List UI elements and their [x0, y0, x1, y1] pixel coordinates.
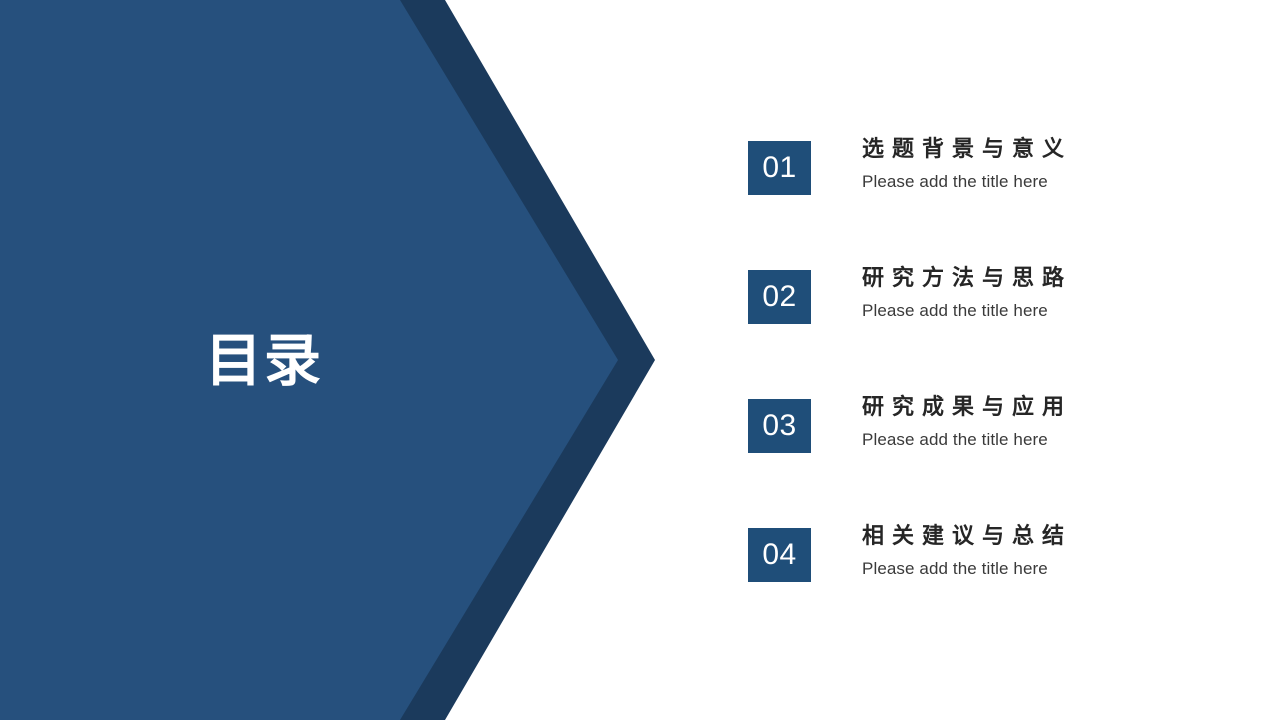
agenda-number-badge: 03: [748, 399, 811, 453]
agenda-item-text: 选题背景与意义 Please add the title here: [862, 135, 1222, 194]
agenda-item-text: 相关建议与总结 Please add the title here: [862, 522, 1222, 581]
agenda-number-badge: 02: [748, 270, 811, 324]
agenda-item-04[interactable]: 04 相关建议与总结 Please add the title here: [748, 528, 1218, 582]
agenda-item-subtitle: Please add the title here: [862, 170, 1222, 194]
agenda-item-title: 选题背景与意义: [862, 135, 1222, 165]
agenda-number-badge: 04: [748, 528, 811, 582]
agenda-item-subtitle: Please add the title here: [862, 299, 1222, 323]
agenda-item-03[interactable]: 03 研究成果与应用 Please add the title here: [748, 399, 1218, 453]
agenda-item-02[interactable]: 02 研究方法与思路 Please add the title here: [748, 270, 1218, 324]
agenda-item-subtitle: Please add the title here: [862, 557, 1222, 581]
agenda-item-text: 研究成果与应用 Please add the title here: [862, 393, 1222, 452]
page-title: 目录: [205, 326, 323, 396]
agenda-list: 01 选题背景与意义 Please add the title here 02 …: [748, 141, 1218, 582]
agenda-item-title: 研究方法与思路: [862, 264, 1222, 294]
agenda-item-01[interactable]: 01 选题背景与意义 Please add the title here: [748, 141, 1218, 195]
agenda-number-badge: 01: [748, 141, 811, 195]
decorative-arrow-band: [0, 0, 700, 720]
agenda-item-title: 研究成果与应用: [862, 393, 1222, 423]
agenda-item-title: 相关建议与总结: [862, 522, 1222, 552]
agenda-item-text: 研究方法与思路 Please add the title here: [862, 264, 1222, 323]
agenda-item-subtitle: Please add the title here: [862, 428, 1222, 452]
slide-canvas: 目录 01 选题背景与意义 Please add the title here …: [0, 0, 1280, 720]
